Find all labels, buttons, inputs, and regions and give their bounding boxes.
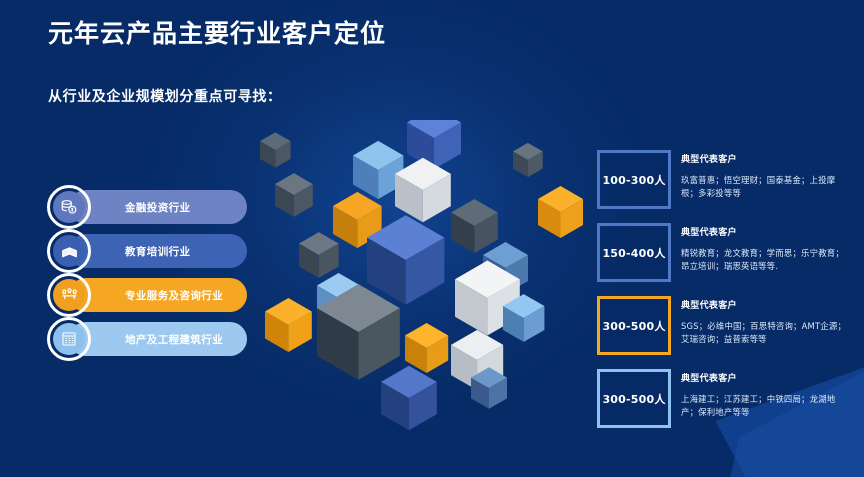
size-range-box: 300-500人 [597, 296, 671, 355]
card-body: 典型代表客户 SGS；必维中国；百思特咨询；AMT企源；艾瑞咨询；益普索等等 [681, 298, 847, 346]
card-body: 典型代表客户 精锐教育；龙文教育；学而思；乐宁教育；昂立培训；瑞思英语等等. [681, 225, 847, 273]
industry-item-finance[interactable]: 金融投资行业 [47, 190, 247, 224]
industry-list: 金融投资行业 教育培训行业 [47, 190, 247, 366]
industry-bar: 地产及工程建筑行业 [69, 322, 247, 356]
customer-size-card-list: 100-300人 典型代表客户 玖富普惠；悟空理财；国泰基金；上投摩根；多彩投等… [597, 150, 847, 442]
industry-bar: 教育培训行业 [69, 234, 247, 268]
industry-badge-ring [47, 229, 91, 273]
industry-item-realestate[interactable]: 地产及工程建筑行业 [47, 322, 247, 356]
page-subtitle: 从行业及企业规模划分重点可寻找： [48, 86, 608, 106]
slide-root: 元年云产品主要行业客户定位 从行业及企业规模划分重点可寻找： 金融投资行业 [0, 0, 864, 477]
cube-cluster-illustration [255, 120, 595, 470]
industry-label: 金融投资行业 [125, 200, 190, 215]
size-range-label: 150-400人 [602, 245, 665, 261]
industry-bar: 专业服务及咨询行业 [69, 278, 247, 312]
size-range-label: 300-500人 [602, 391, 665, 407]
industry-label: 地产及工程建筑行业 [125, 332, 223, 347]
customer-size-card[interactable]: 100-300人 典型代表客户 玖富普惠；悟空理财；国泰基金；上投摩根；多彩投等… [597, 150, 847, 217]
page-title: 元年云产品主要行业客户定位 [48, 18, 608, 49]
size-range-box: 300-500人 [597, 369, 671, 428]
card-clients: 精锐教育；龙文教育；学而思；乐宁教育；昂立培训；瑞思英语等等. [681, 247, 847, 273]
industry-badge-ring [47, 185, 91, 229]
card-clients: SGS；必维中国；百思特咨询；AMT企源；艾瑞咨询；益普索等等 [681, 320, 847, 346]
card-heading: 典型代表客户 [681, 371, 847, 384]
size-range-box: 150-400人 [597, 223, 671, 282]
industry-badge-ring [47, 273, 91, 317]
open-book-icon [53, 235, 85, 267]
industry-item-consulting[interactable]: 专业服务及咨询行业 [47, 278, 247, 312]
card-clients: 上海建工；江苏建工；中铁四局；龙湖地产；保利地产等等 [681, 393, 847, 419]
customer-size-card[interactable]: 150-400人 典型代表客户 精锐教育；龙文教育；学而思；乐宁教育；昂立培训；… [597, 223, 847, 290]
industry-label: 教育培训行业 [125, 244, 190, 259]
customer-size-card[interactable]: 300-500人 典型代表客户 SGS；必维中国；百思特咨询；AMT企源；艾瑞咨… [597, 296, 847, 363]
card-body: 典型代表客户 玖富普惠；悟空理财；国泰基金；上投摩根；多彩投等等 [681, 152, 847, 200]
size-range-box: 100-300人 [597, 150, 671, 209]
card-clients: 玖富普惠；悟空理财；国泰基金；上投摩根；多彩投等等 [681, 174, 847, 200]
building-icon [53, 323, 85, 355]
size-range-label: 300-500人 [602, 318, 665, 334]
coins-stack-icon [53, 191, 85, 223]
size-range-label: 100-300人 [602, 172, 665, 188]
meeting-people-icon [53, 279, 85, 311]
industry-bar: 金融投资行业 [69, 190, 247, 224]
industry-badge-ring [47, 317, 91, 361]
customer-size-card[interactable]: 300-500人 典型代表客户 上海建工；江苏建工；中铁四局；龙湖地产；保利地产… [597, 369, 847, 436]
card-heading: 典型代表客户 [681, 298, 847, 311]
industry-label: 专业服务及咨询行业 [125, 288, 223, 303]
industry-item-education[interactable]: 教育培训行业 [47, 234, 247, 268]
card-heading: 典型代表客户 [681, 225, 847, 238]
card-heading: 典型代表客户 [681, 152, 847, 165]
slide-header: 元年云产品主要行业客户定位 从行业及企业规模划分重点可寻找： [48, 18, 608, 106]
card-body: 典型代表客户 上海建工；江苏建工；中铁四局；龙湖地产；保利地产等等 [681, 371, 847, 419]
